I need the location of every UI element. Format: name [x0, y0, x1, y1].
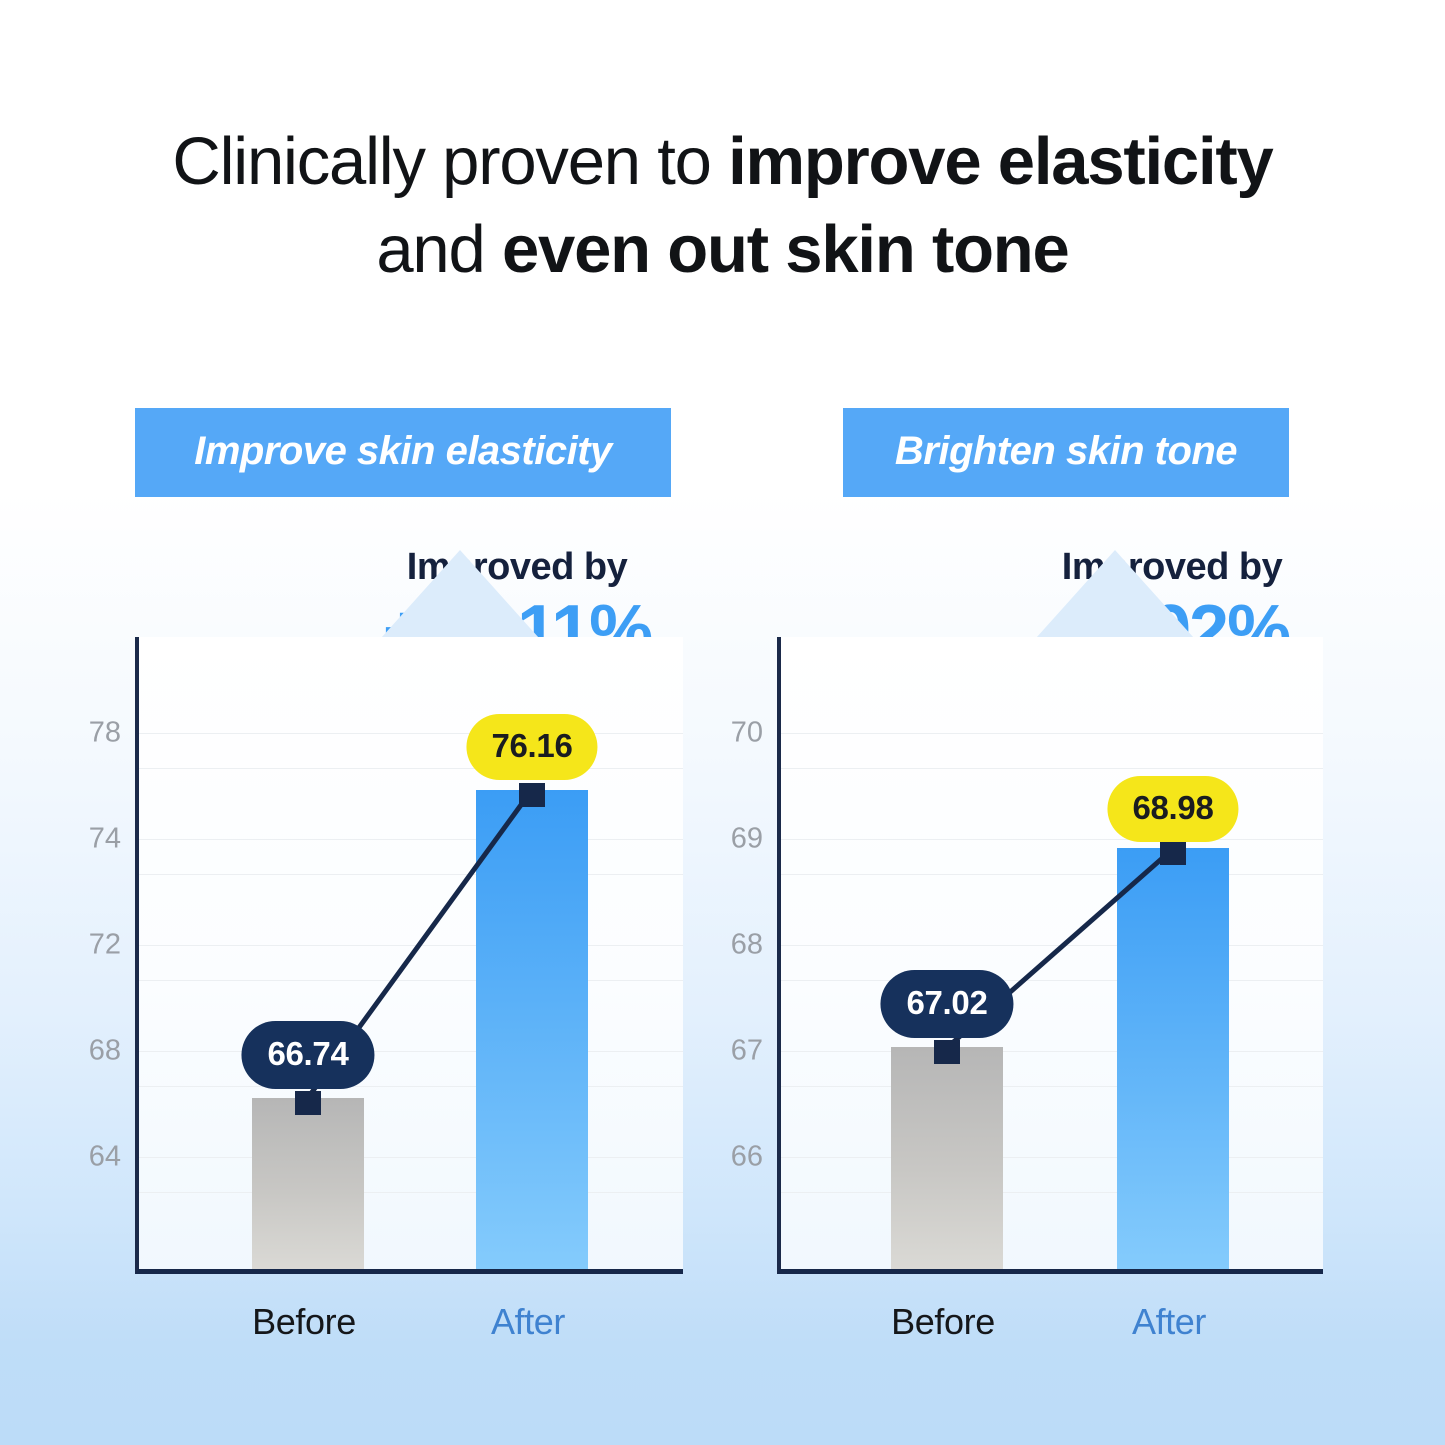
xlabel-after-elasticity: After — [491, 1301, 565, 1343]
headline-line-2: and even out skin tone — [0, 206, 1445, 294]
value-badge-before-elasticity: 66.74 — [241, 1021, 374, 1089]
ytick-label: 72 — [89, 929, 121, 962]
ytick-label: 74 — [89, 823, 121, 856]
improved-label-skin-tone: Improved by — [962, 546, 1382, 590]
page-title: Clinically proven to improve elasticity … — [0, 118, 1445, 295]
ytick-label: 68 — [89, 1035, 121, 1068]
data-point-marker-before — [295, 1091, 321, 1115]
ytick-label: 70 — [731, 717, 763, 750]
plot-area-elasticity: 78 74 72 68 64 — [135, 637, 683, 1274]
trend-connector-line — [139, 637, 683, 1269]
chart-skin-tone: 70 69 68 67 66 67.02 68.98 Before After — [777, 637, 1323, 1274]
headline-line-1-plain: Clinically proven to — [172, 124, 728, 199]
ytick-label: 78 — [89, 717, 121, 750]
ytick-label: 69 — [731, 823, 763, 856]
ytick-label: 67 — [731, 1035, 763, 1068]
data-point-marker-after — [1160, 841, 1186, 865]
data-point-marker-before — [934, 1040, 960, 1064]
xlabel-before-skin-tone: Before — [891, 1301, 995, 1343]
headline-line-2-plain: and — [376, 212, 502, 287]
panel-badge-title-elasticity: Improve skin elasticity — [135, 408, 671, 497]
ytick-label: 66 — [731, 1141, 763, 1174]
ytick-label: 68 — [731, 929, 763, 962]
value-badge-after-skin-tone: 68.98 — [1107, 776, 1238, 842]
headline-line-2-bold: even out skin tone — [502, 212, 1069, 287]
ytick-label: 64 — [89, 1141, 121, 1174]
data-point-marker-after — [519, 783, 545, 807]
headline-line-1: Clinically proven to improve elasticity — [0, 118, 1445, 206]
headline-line-1-bold: improve elasticity — [728, 124, 1272, 199]
value-badge-after-elasticity: 76.16 — [466, 714, 597, 780]
trend-connector-line — [781, 637, 1323, 1269]
chart-elasticity: 78 74 72 68 64 66.74 76.16 Before After — [135, 637, 683, 1274]
xlabel-after-skin-tone: After — [1132, 1301, 1206, 1343]
plot-area-skin-tone: 70 69 68 67 66 — [777, 637, 1323, 1274]
improved-label-elasticity: Improved by — [307, 546, 727, 590]
panel-elasticity: Improve skin elasticity — [135, 408, 683, 497]
panel-badge-title-skin-tone: Brighten skin tone — [843, 408, 1289, 497]
value-badge-before-skin-tone: 67.02 — [880, 970, 1013, 1038]
xlabel-before-elasticity: Before — [252, 1301, 356, 1343]
panel-skin-tone: Brighten skin tone — [777, 408, 1323, 497]
